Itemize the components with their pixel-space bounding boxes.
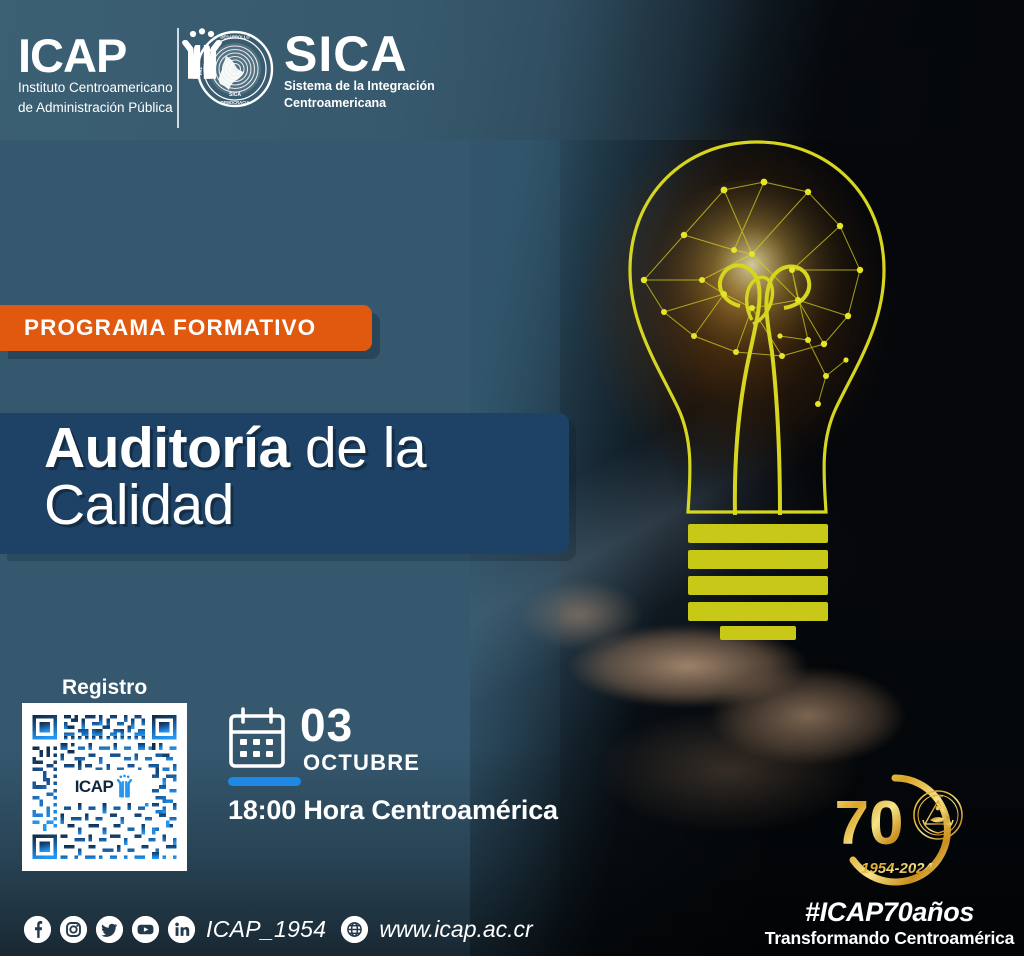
svg-text:PAZ: PAZ [198,67,203,76]
badge-label: PROGRAMA FORMATIVO [24,315,316,341]
calendar-icon [228,707,286,774]
anniversary-hashtag: #ICAP70años [755,897,1024,928]
promotional-poster: ICAP Instituto Centroamericano de Admini… [0,0,1024,956]
registro-label: Registro [62,676,147,700]
svg-text:SICA: SICA [229,92,241,98]
title-line2: Calidad [44,478,584,533]
network-lightbulb-illustration [612,130,902,640]
website-url[interactable]: www.icap.ac.cr [379,916,532,943]
sica-subtitle-line1: Sistema de la Integración [284,79,435,94]
title-bold: Auditoría [44,416,290,480]
facebook-icon[interactable] [24,916,51,943]
seal-years: 1954-2024 [861,860,933,877]
programa-formativo-badge: PROGRAMA FORMATIVO [0,305,372,351]
sica-acronym: SICA [284,32,435,77]
svg-text:DESARROLLO: DESARROLLO [220,35,250,40]
sica-circular-emblem-icon: DESARROLLO DEMOCRACIA PAZ SICA [196,30,274,113]
header: ICAP Instituto Centroamericano de Admini… [0,0,1024,140]
youtube-icon[interactable] [132,916,159,943]
instagram-icon[interactable] [60,916,87,943]
icap-acronym: ICAP [18,34,173,77]
icap-subtitle-line1: Instituto Centroamericano [18,80,173,96]
registration-qr-code[interactable]: ICAP [22,703,187,871]
event-month: OCTUBRE [303,752,420,774]
qr-center-label: ICAP [75,777,114,797]
sica-logo[interactable]: DESARROLLO DEMOCRACIA PAZ SICA SICA Sist… [196,30,435,113]
social-handle[interactable]: ICAP_1954 [206,916,326,943]
sica-subtitle-line2: Centroamericana [284,96,435,111]
twitter-icon[interactable] [96,916,123,943]
linkedin-icon[interactable] [168,916,195,943]
svg-text:ICAP: ICAP [933,794,944,799]
event-day: 03 [300,702,353,748]
svg-text:70: 70 [835,789,904,858]
accent-underline [228,777,301,786]
header-divider [177,28,179,128]
globe-icon[interactable] [341,916,368,943]
social-footer: ICAP_1954 www.icap.ac.cr [24,916,533,943]
anniversary-tagline: Transformando Centroamérica [755,928,1024,949]
title-light: de la [290,416,426,480]
svg-text:DEMOCRACIA: DEMOCRACIA [221,100,250,105]
qr-center-logo: ICAP [57,770,152,803]
page-title: Auditoría de la Calidad [44,421,584,532]
icap-subtitle-line2: de Administración Pública [18,100,173,116]
event-time: 18:00 Hora Centroamérica [228,795,558,826]
icap-70-years-gold-seal: 70 ICAP 1954-2024 [823,772,968,890]
